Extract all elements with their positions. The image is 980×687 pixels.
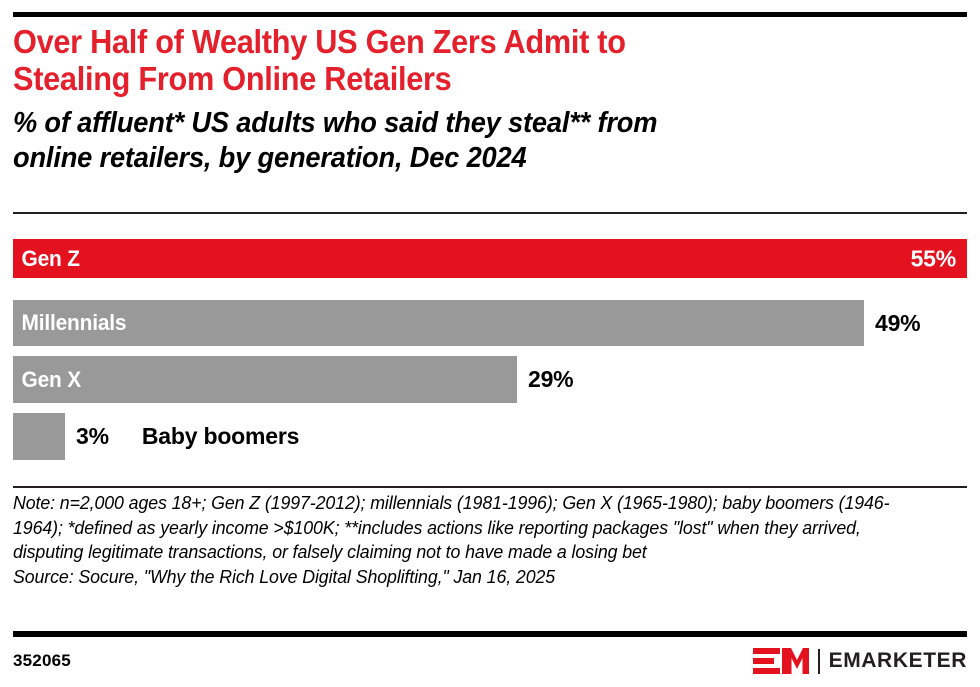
note-text: Note: n=2,000 ages 18+; Gen Z (1997-2012…	[13, 491, 929, 565]
bar-category-label: Gen X	[13, 367, 81, 393]
bar-chart: Gen Z55%Millennials49%Gen X29%3%Baby boo…	[13, 239, 967, 471]
logo-divider	[818, 649, 820, 674]
bar-category-label: Gen Z	[13, 246, 80, 272]
page-title: Over Half of Wealthy US Gen Zers Admit t…	[13, 23, 900, 97]
bar-row: Millennials49%	[13, 300, 967, 346]
brand-name: EMARKETER	[829, 649, 967, 673]
emarketer-logo: EMARKETER	[753, 647, 967, 675]
chart-sheet: Over Half of Wealthy US Gen Zers Admit t…	[0, 0, 980, 687]
chart-id: 352065	[13, 651, 71, 671]
bottom-rule	[13, 631, 967, 637]
bar-gen-z[interactable]: Gen Z55%	[13, 239, 967, 278]
bar-gen-x[interactable]: Gen X	[13, 356, 517, 403]
bar-row: Gen Z55%	[13, 239, 967, 278]
note-divider-rule	[13, 486, 967, 488]
bar-category-label: Millennials	[13, 310, 126, 336]
bar-value-label: 29%	[517, 356, 573, 403]
source-text: Source: Socure, "Why the Rich Love Digit…	[13, 565, 929, 590]
em-monogram-icon	[753, 647, 809, 675]
note-block: Note: n=2,000 ages 18+; Gen Z (1997-2012…	[13, 491, 967, 589]
chart-header: Over Half of Wealthy US Gen Zers Admit t…	[13, 23, 967, 176]
bar-row: Gen X29%	[13, 356, 967, 403]
chart-footer: 352065 EMARKETER	[13, 645, 967, 677]
bar-value-label: 49%	[864, 300, 920, 346]
page-subtitle: % of affluent* US adults who said they s…	[13, 106, 910, 176]
bar-value-label: 3%	[65, 413, 109, 460]
bar-row: 3%Baby boomers	[13, 413, 967, 460]
header-divider-rule	[13, 212, 967, 214]
bar-category-label: Baby boomers	[109, 413, 299, 460]
bar-value-label: 55%	[911, 245, 956, 272]
bar-millennials[interactable]: Millennials	[13, 300, 864, 346]
bar-baby-boomers[interactable]	[13, 413, 65, 460]
top-rule	[13, 12, 967, 17]
